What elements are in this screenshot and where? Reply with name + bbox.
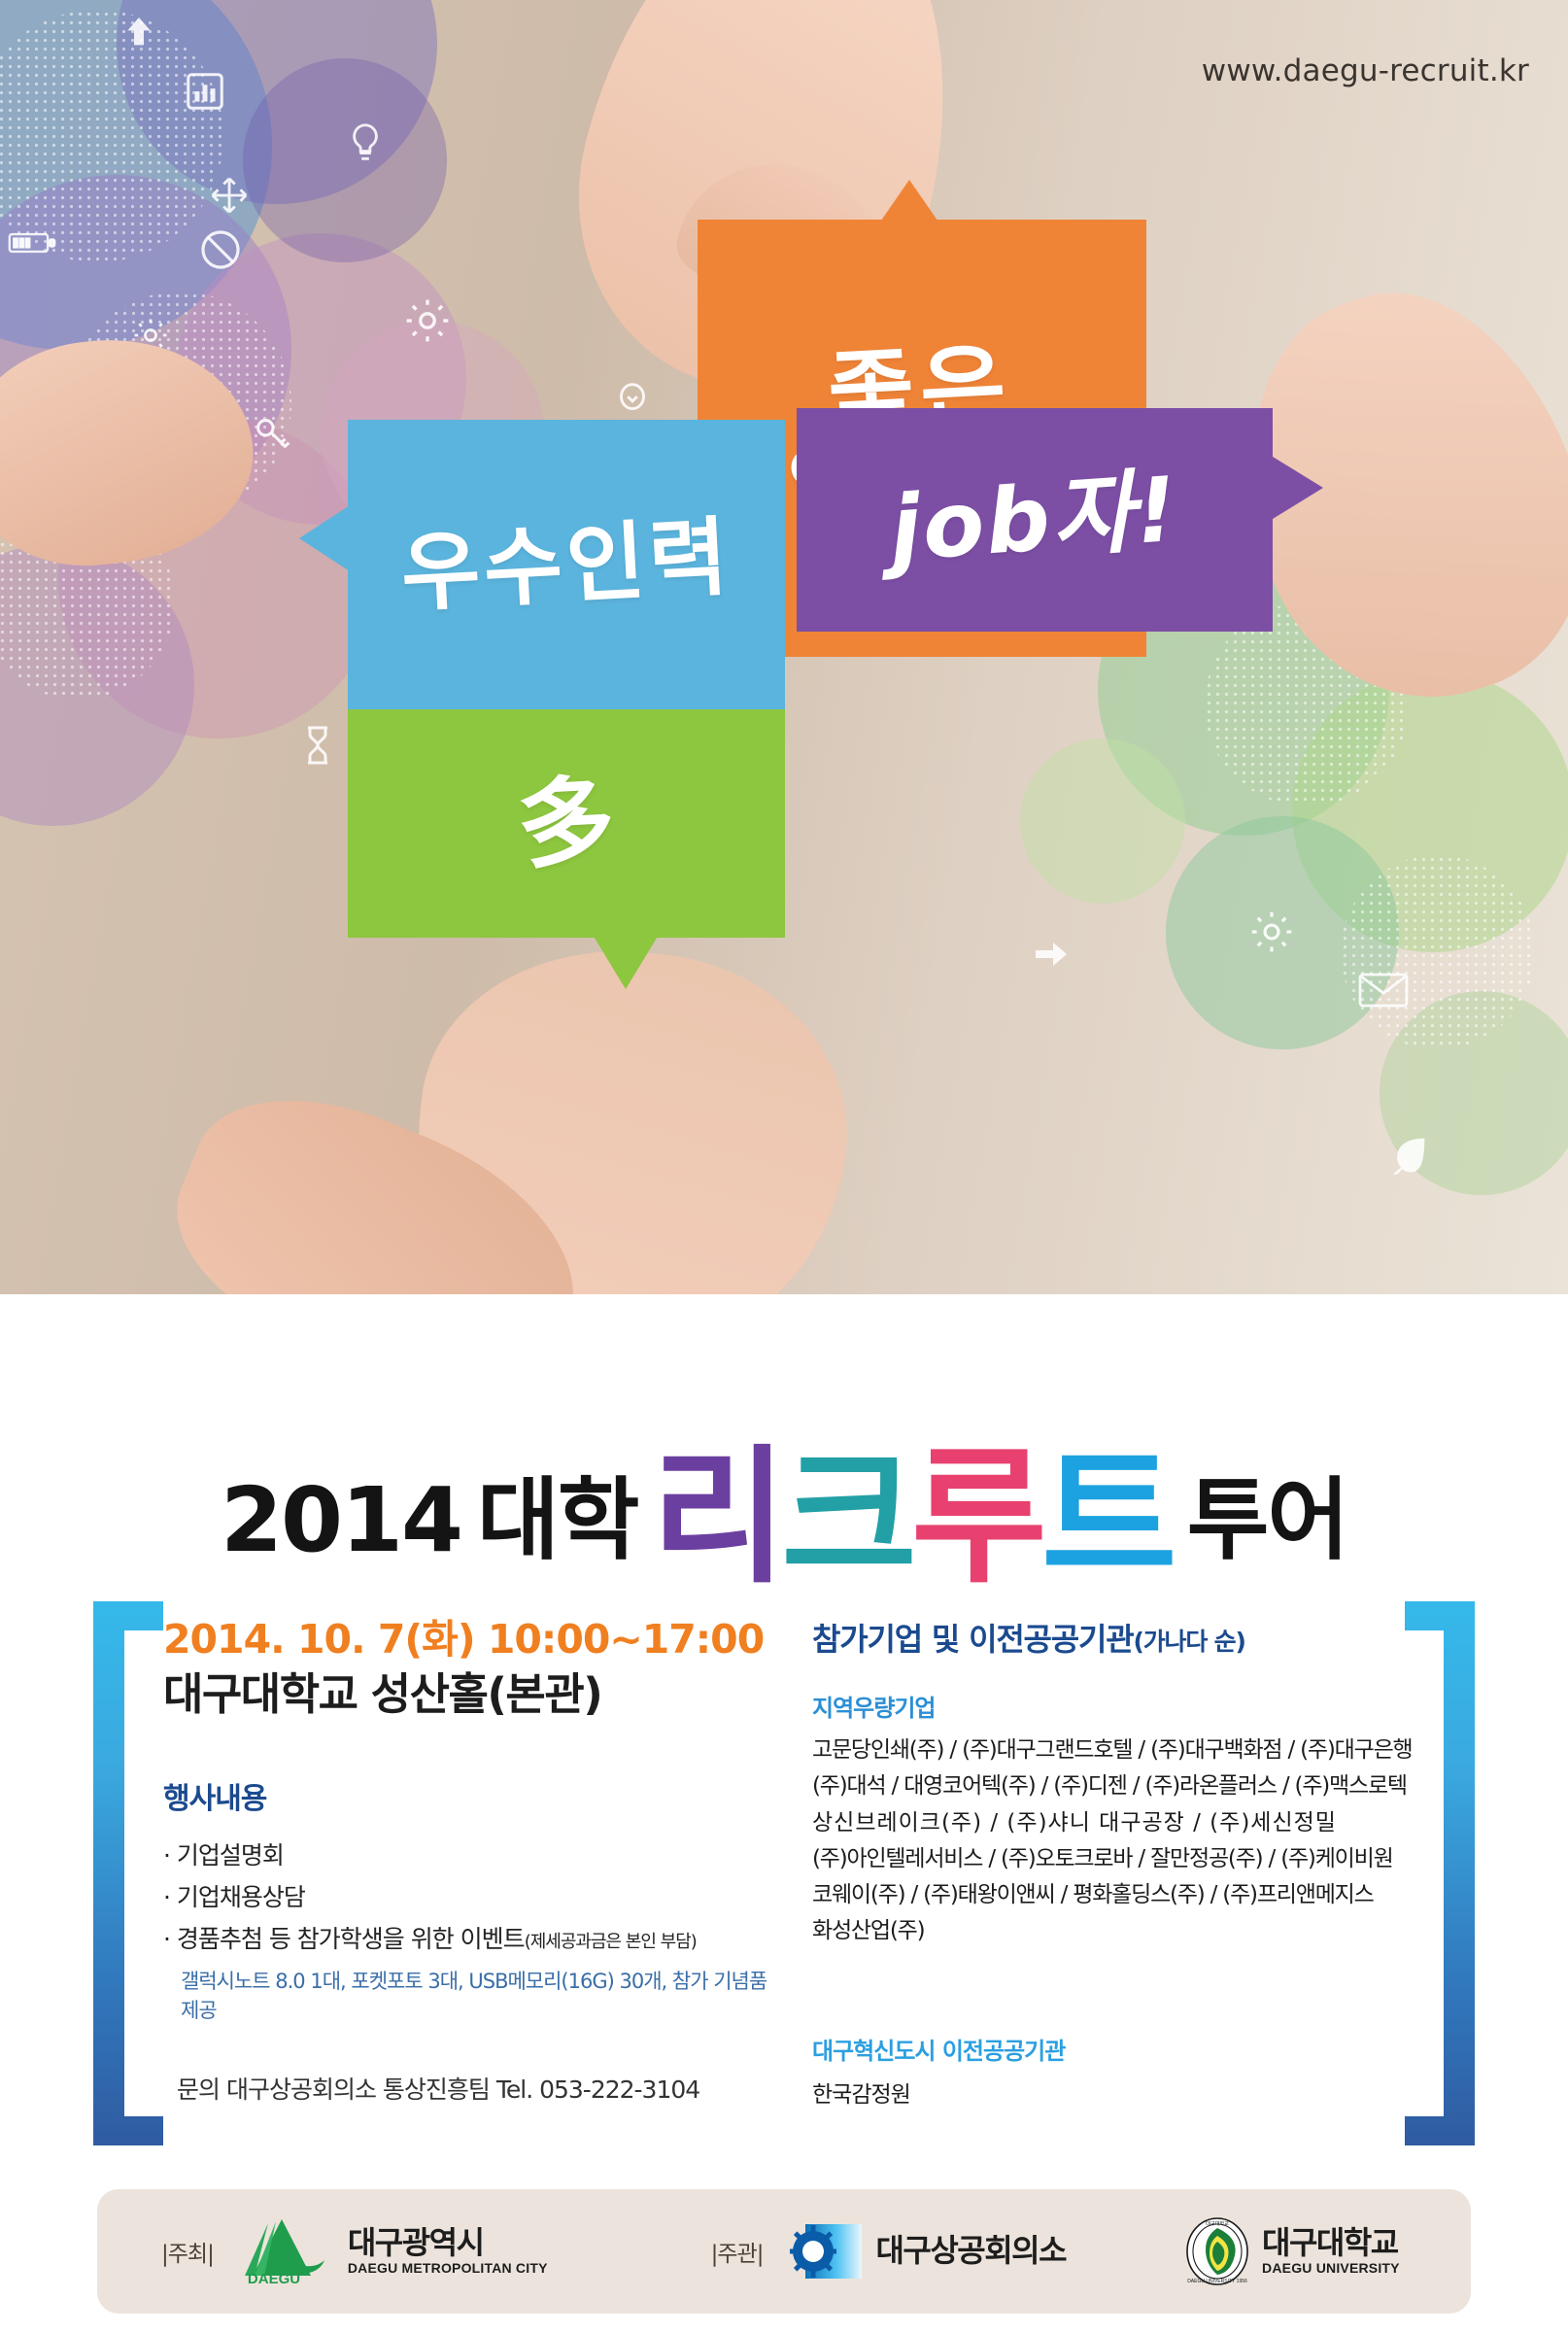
bullet-text: · 경품추첨 등 참가학생을 위한 이벤트: [163, 1925, 525, 1953]
website-url[interactable]: www.daegu-recruit.kr: [1202, 53, 1529, 88]
daegu-city-mark-icon: DAEGU: [239, 2215, 336, 2287]
bubble-jobja: job자!: [797, 408, 1273, 632]
list-item: (주)대석 / 대영코어텍(주) / (주)디젠 / (주)라온플러스 / (주…: [812, 1768, 1395, 1804]
event-info-column: 2014. 10. 7(화) 10:00~17:00 대구대학교 성산홀(본관)…: [163, 1615, 785, 2106]
mail-icon: [1355, 967, 1412, 1013]
title-syllable-teu: 트: [1041, 1397, 1172, 1611]
list-item: 한국감정원: [812, 2076, 1395, 2109]
title-syllable-keu: 크: [781, 1397, 911, 1611]
move-arrows-icon: [204, 170, 255, 221]
daegu-university-logo: 대구대학교 DAEGU UNIVERSITY 1956 대구대학교 DAEGU …: [1184, 2216, 1400, 2286]
play-arrow-icon: [1025, 928, 1077, 980]
event-venue: 대구대학교 성산홀(본관): [163, 1666, 785, 1724]
title-university: 대학: [477, 1448, 637, 1577]
title-tour: 투어: [1187, 1448, 1347, 1577]
list-item: (주)아인텔레서비스 / (주)오토크로바 / 잘만정공(주) / (주)케이비…: [812, 1841, 1395, 1877]
daegu-univ-seal-icon: 대구대학교 DAEGU UNIVERSITY 1956: [1184, 2216, 1250, 2286]
public-institutions-subheading: 대구혁신도시 이전공공기관: [812, 2032, 1395, 2066]
gear-right-icon: [1244, 904, 1300, 960]
logo-name-en: DAEGU UNIVERSITY: [1262, 2260, 1400, 2276]
bar-chart-icon: [180, 66, 230, 117]
participants-heading-main: 참가기업 및 이전공공기관: [812, 1621, 1134, 1658]
dgcci-gear-mark-icon: [788, 2219, 864, 2283]
list-item: · 기업채용상담: [163, 1876, 785, 1918]
section-spacer: [812, 1950, 1395, 2003]
bubble-jobja-label: job자!: [888, 465, 1182, 575]
bubble-many: 多: [348, 709, 785, 938]
deco-circle: [1020, 738, 1185, 904]
prize-note: 갤럭시노트 8.0 1대, 포켓포토 3대, USB메모리(16G) 30개, …: [181, 1966, 785, 2024]
event-contents-heading: 행사내용: [163, 1774, 785, 1817]
bullet-text: · 기업채용상담: [163, 1883, 305, 1911]
svg-text:DAEGU: DAEGU: [248, 2271, 300, 2287]
organizer-label: |주관|: [711, 2235, 764, 2268]
participants-heading-suffix: (가나다 순): [1134, 1628, 1245, 1656]
list-item: 코웨이(주) / (주)태왕이앤씨 / 평화홀딩스(주) / (주)프리앤메지스: [812, 1877, 1395, 1913]
logo-name-kr: 대구상공회의소: [875, 2235, 1066, 2268]
event-datetime: 2014. 10. 7(화) 10:00~17:00: [163, 1615, 785, 1664]
chat-bubble-icon: [607, 374, 658, 425]
bubble-many-label: 多: [515, 772, 617, 875]
battery-icon: [5, 223, 59, 262]
bubble-good-jobs-tail: [874, 180, 944, 230]
logo-name-kr: 대구대학교: [1262, 2227, 1400, 2260]
sponsor-footer: |주최| DAEGU 대구광역시 DAEGU METROPOLITAN CITY…: [97, 2189, 1471, 2314]
list-item: · 경품추첨 등 참가학생을 위한 이벤트(제세공과금은 본인 부담): [163, 1918, 785, 1960]
content-panel: 2014. 10. 7(화) 10:00~17:00 대구대학교 성산홀(본관)…: [93, 1601, 1475, 2145]
bubble-excellent-talent-tail: [299, 505, 350, 571]
title-syllable-ru: 루: [911, 1397, 1041, 1611]
svg-text:대구대학교: 대구대학교: [1206, 2219, 1229, 2227]
key-icon: [248, 408, 298, 459]
lightbulb-icon: [340, 117, 391, 167]
page-title: 2014대학리크루트투어: [0, 1380, 1568, 1594]
logo-name-en: DAEGU METROPOLITAN CITY: [348, 2260, 548, 2276]
event-contents-list: · 기업설명회 · 기업채용상담 · 경품추첨 등 참가학생을 위한 이벤트(제…: [163, 1835, 785, 2024]
logo-name-kr: 대구광역시: [348, 2227, 548, 2260]
bullet-note: (제세공과금은 본인 부담): [525, 1932, 697, 1952]
list-item: 화성산업(주): [812, 1913, 1395, 1949]
bubble-excellent-talent-label: 우수인력: [399, 514, 733, 617]
daegu-city-logo: DAEGU 대구광역시 DAEGU METROPOLITAN CITY: [239, 2215, 548, 2287]
contact-info: 문의 대구상공회의소 통상진흥팀 Tel. 053-222-3104: [177, 2071, 785, 2106]
leaf-icon: [1380, 1127, 1436, 1184]
bubble-excellent-talent: 우수인력: [348, 420, 785, 711]
bubble-many-tail: [593, 935, 659, 989]
list-item: · 기업설명회: [163, 1835, 785, 1876]
local-companies-subheading: 지역우량기업: [812, 1689, 1395, 1723]
arrow-up-icon: [117, 10, 161, 54]
title-syllable-ri: 리: [651, 1397, 781, 1611]
no-entry-icon: [194, 223, 247, 276]
hourglass-icon: [291, 719, 344, 772]
participants-column: 참가기업 및 이전공공기관(가나다 순) 지역우량기업 고문당인쇄(주) / (…: [812, 1615, 1395, 2109]
bracket-right: [1405, 1601, 1475, 2145]
company-list: 고문당인쇄(주) / (주)대구그랜드호텔 / (주)대구백화점 / (주)대구…: [812, 1733, 1395, 1950]
host-label: |주최|: [161, 2235, 214, 2268]
gear-icon: [398, 292, 457, 350]
participants-heading: 참가기업 및 이전공공기관(가나다 순): [812, 1615, 1395, 1660]
bubble-jobja-tail: [1273, 457, 1323, 519]
dgcci-logo: 대구상공회의소: [788, 2219, 1066, 2283]
list-item: 상신브레이크(주) / (주)샤니 대구공장 / (주)세신정밀: [812, 1805, 1395, 1841]
hero-image: 좋은일자리 job자! 우수인력 多 www.daegu-recruit.kr: [0, 0, 1568, 1294]
svg-text:DAEGU UNIVERSITY 1956: DAEGU UNIVERSITY 1956: [1187, 2279, 1247, 2284]
deco-dots: [1341, 855, 1535, 1049]
list-item: 고문당인쇄(주) / (주)대구그랜드호텔 / (주)대구백화점 / (주)대구…: [812, 1733, 1395, 1768]
title-year: 2014: [221, 1468, 461, 1572]
bullet-text: · 기업설명회: [163, 1841, 284, 1870]
bracket-left: [93, 1601, 163, 2145]
